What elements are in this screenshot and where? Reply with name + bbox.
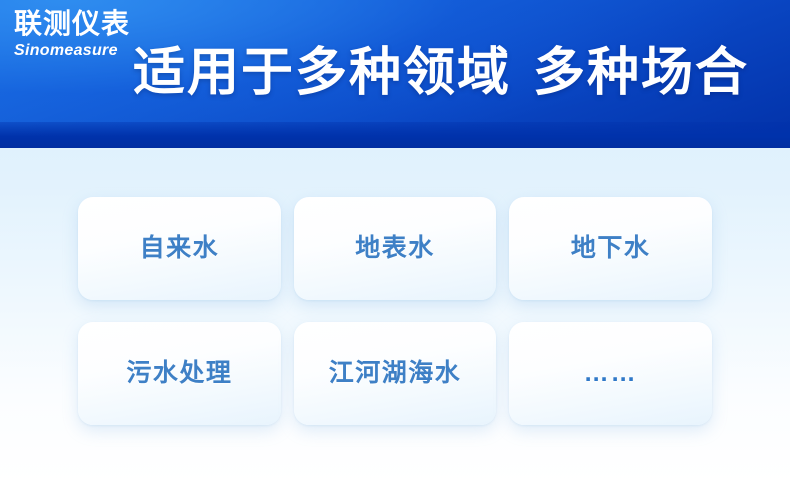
page-title-part-2: 多种场合 bbox=[533, 44, 749, 102]
application-card-grid: 自来水 地表水 地下水 污水处理 江河湖海水 …… bbox=[78, 197, 712, 425]
application-card-label: 地表水 bbox=[355, 236, 435, 261]
application-card-label: 污水处理 bbox=[126, 361, 232, 386]
page-header: 联测仪表 Sinomeasure 适用于多种领域多种场合 bbox=[0, 0, 790, 148]
page-title: 适用于多种领域多种场合 bbox=[133, 44, 749, 102]
application-card-river-lake-sea-water[interactable]: 江河湖海水 bbox=[294, 322, 497, 425]
application-card-sewage-treatment[interactable]: 污水处理 bbox=[78, 322, 281, 425]
application-card-label: 自来水 bbox=[140, 236, 220, 261]
page-title-part-1: 适用于多种领域 bbox=[133, 44, 511, 102]
brand-name-english: Sinomeasure bbox=[14, 43, 130, 59]
promo-banner-page: 联测仪表 Sinomeasure 适用于多种领域多种场合 自来水 地表水 地下水… bbox=[0, 0, 790, 484]
application-card-more[interactable]: …… bbox=[509, 322, 712, 425]
application-card-groundwater[interactable]: 地下水 bbox=[509, 197, 712, 300]
application-card-label: …… bbox=[584, 361, 638, 386]
application-card-surface-water[interactable]: 地表水 bbox=[294, 197, 497, 300]
application-card-label: 地下水 bbox=[571, 236, 651, 261]
application-card-tap-water[interactable]: 自来水 bbox=[78, 197, 281, 300]
brand-logo: 联测仪表 Sinomeasure bbox=[14, 10, 130, 59]
brand-name-chinese: 联测仪表 bbox=[14, 10, 130, 38]
application-card-label: 江河湖海水 bbox=[329, 361, 462, 386]
